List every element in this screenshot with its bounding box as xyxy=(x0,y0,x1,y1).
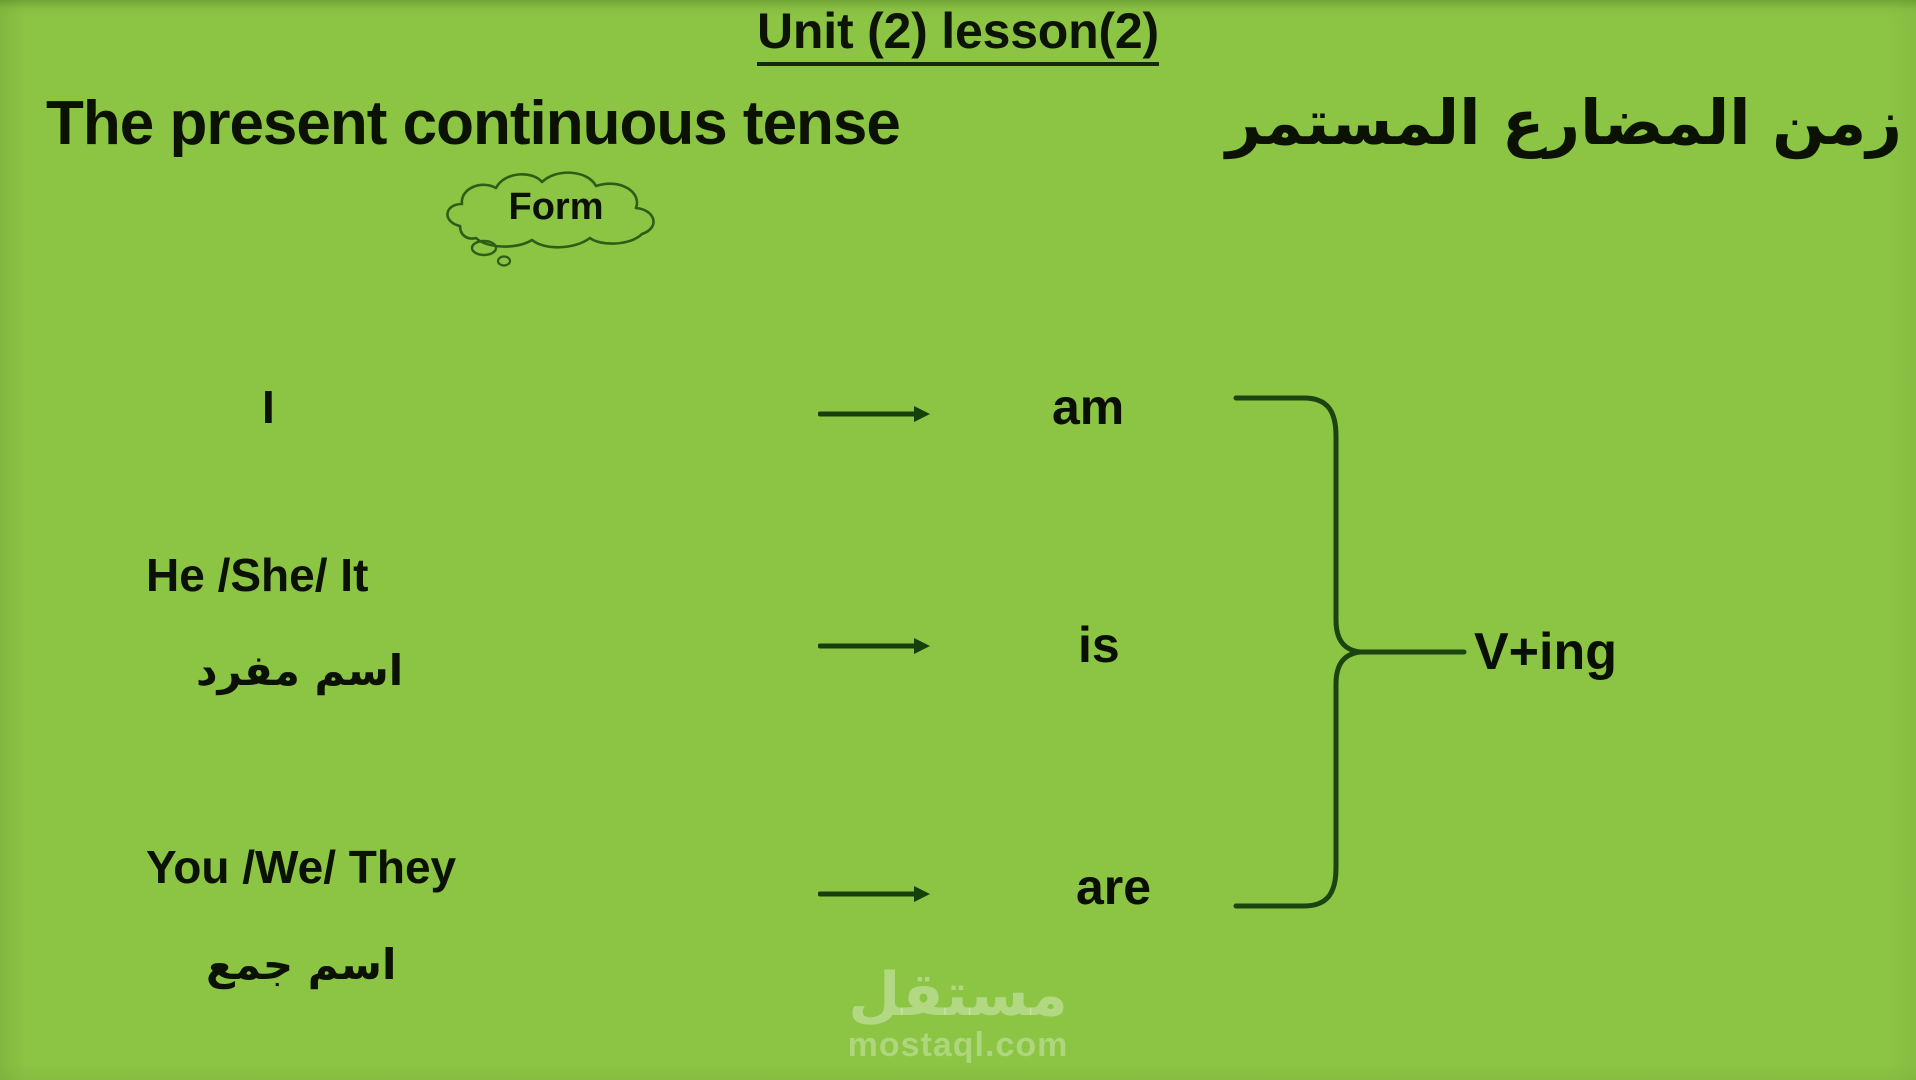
right-arrow-icon xyxy=(818,880,934,908)
pronoun-row-3: You /We/ They xyxy=(146,840,456,894)
grouping-brace xyxy=(1232,392,1478,912)
arrow-row-2 xyxy=(818,632,934,660)
pronoun-note-row-3: اسم جمع xyxy=(206,940,396,989)
curly-brace-icon xyxy=(1232,392,1478,912)
be-verb-row-1: am xyxy=(1052,378,1124,436)
pronoun-note-row-2: اسم مفرد xyxy=(196,646,403,695)
pronoun-row-2: He /She/ It xyxy=(146,548,368,602)
be-verb-row-3: are xyxy=(1076,858,1151,916)
page-title-text: Unit (2) lesson(2) xyxy=(757,3,1159,66)
slide-canvas: Unit (2) lesson(2) The present continuou… xyxy=(0,0,1916,1080)
lesson-heading-arabic: زمن المضارع المستمر xyxy=(1226,86,1902,159)
arrow-row-1 xyxy=(818,400,934,428)
pronoun-row-1: I xyxy=(262,380,275,434)
arrow-row-3 xyxy=(818,880,934,908)
right-arrow-icon xyxy=(818,400,934,428)
right-arrow-icon xyxy=(818,632,934,660)
ving-label: V+ing xyxy=(1474,622,1617,682)
watermark-domain: mostaql.com xyxy=(0,1025,1916,1066)
lesson-heading-english: The present continuous tense xyxy=(46,88,900,159)
be-verb-row-2: is xyxy=(1078,616,1120,674)
page-title: Unit (2) lesson(2) xyxy=(0,2,1916,60)
form-cloud: Form xyxy=(424,160,682,268)
form-cloud-label: Form xyxy=(486,186,626,229)
